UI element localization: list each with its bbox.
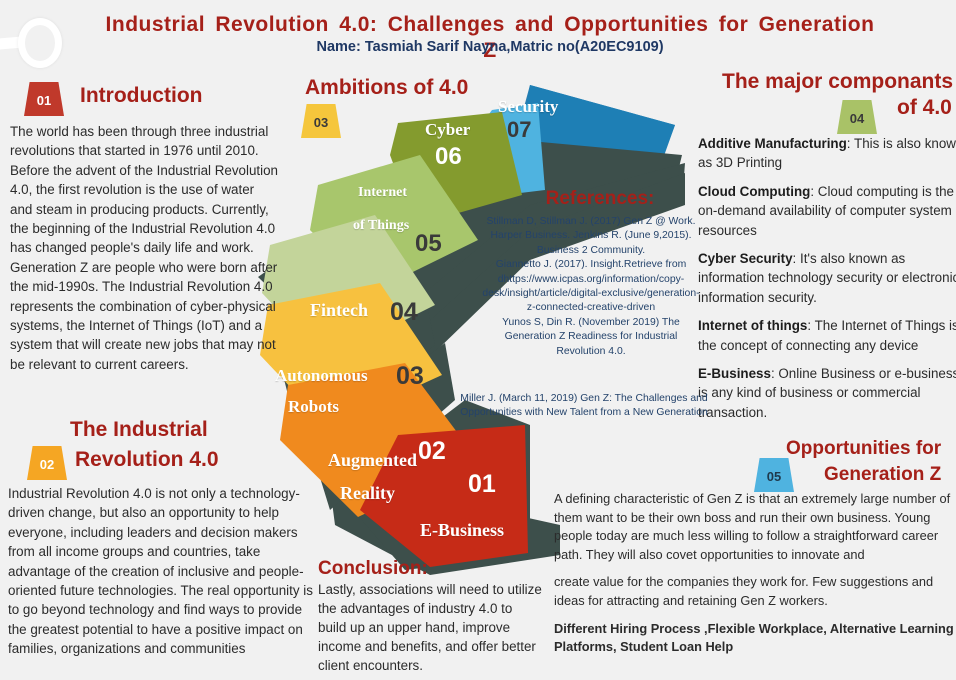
step-label-03-line1: Autonomous [275,366,368,386]
opportunities-para-3: Different Hiring Process ,Flexible Workp… [554,620,956,657]
component-term-4: E-Business [698,366,771,381]
heading-ambitions: Ambitions of 4.0 [305,76,468,100]
step-label-02-line1: Augmented [328,450,417,471]
component-item-4: E-Business: Online Business or e-busines… [698,364,956,422]
step-label-01: E-Business [420,520,504,541]
magnifier-ring [18,18,62,68]
heading-components-line1: The major componants [722,70,953,94]
step-number-02: 02 [418,437,446,466]
reference-entry-0: Stillman D, Stillman J. (2017) Gen Z @ W… [480,215,702,258]
reference-entry-2: Yunos S, Din R. (November 2019) The Gene… [480,316,702,359]
component-term-1: Cloud Computing [698,184,810,199]
badge-04: 04 [837,100,877,134]
step-label-04: Fintech [310,300,368,321]
heading-opportunities-line1: Opportunities for [786,438,941,460]
poster-canvas: Industrial Revolution 4.0: Challenges an… [0,0,956,680]
component-term-3: Internet of things [698,318,807,333]
industrial-body: Industrial Revolution 4.0 is not only a … [8,484,313,659]
step-label-05-line2: of Things [353,218,409,234]
badge-01: 01 [24,82,64,116]
step-label-05-line1: Internet [358,185,407,201]
step-label-06: Cyber [425,120,470,140]
badge-02: 02 [27,446,67,480]
opportunities-para-2: create value for the companies they work… [554,573,956,610]
step-number-06: 06 [435,143,462,171]
badge-03: 03 [301,104,341,138]
step-number-07: 07 [507,117,531,143]
step-number-01: 01 [468,470,496,499]
step-label-03-line2: Robots [288,397,339,417]
step-number-04: 04 [390,298,418,327]
step-label-02-line2: Reality [340,483,395,504]
component-item-2: Cyber Security: It's also known as infor… [698,249,956,307]
heading-industrial-line2: Revolution 4.0 [75,448,219,472]
component-item-0: Additive Manufacturing: This is also kno… [698,134,956,173]
opportunities-para-1: A defining characteristic of Gen Z is th… [554,490,956,564]
references-body: Stillman D, Stillman J. (2017) Gen Z @ W… [480,215,702,359]
heading-opportunities-line2: Generation Z [824,464,941,486]
component-item-3: Internet of things: The Internet of Thin… [698,316,956,355]
badge-05: 05 [754,458,794,492]
heading-conclusion: Conclusion: [318,558,428,580]
component-item-1: Cloud Computing: Cloud computing is the … [698,182,956,240]
components-list: Additive Manufacturing: This is also kno… [698,134,956,431]
magnifier-icon [0,18,66,70]
references-body-2: Miller J. (March 11, 2019) Gen Z: The Ch… [460,392,708,421]
component-term-0: Additive Manufacturing [698,136,847,151]
reference-entry-1: Giannetto J. (2017). Insight.Retrieve fr… [480,258,702,316]
reference-entry-3: Miller J. (March 11, 2019) Gen Z: The Ch… [460,392,708,421]
heading-references: References: [500,188,700,210]
step-number-05: 05 [415,230,442,258]
opportunities-body: A defining characteristic of Gen Z is th… [554,490,956,666]
conclusion-body: Lastly, associations will need to utiliz… [318,580,543,675]
component-term-2: Cyber Security [698,251,793,266]
introduction-body: The world has been through three industr… [10,122,278,374]
step-number-03: 03 [396,362,424,391]
heading-components-line2: of 4.0 [897,96,952,120]
heading-introduction: Introduction [80,84,202,108]
step-label-07: Security [498,97,558,117]
author-subtitle: Name: Tasmiah Sarif Nayna,Matric no(A20E… [100,38,880,56]
heading-industrial-line1: The Industrial [70,418,208,442]
